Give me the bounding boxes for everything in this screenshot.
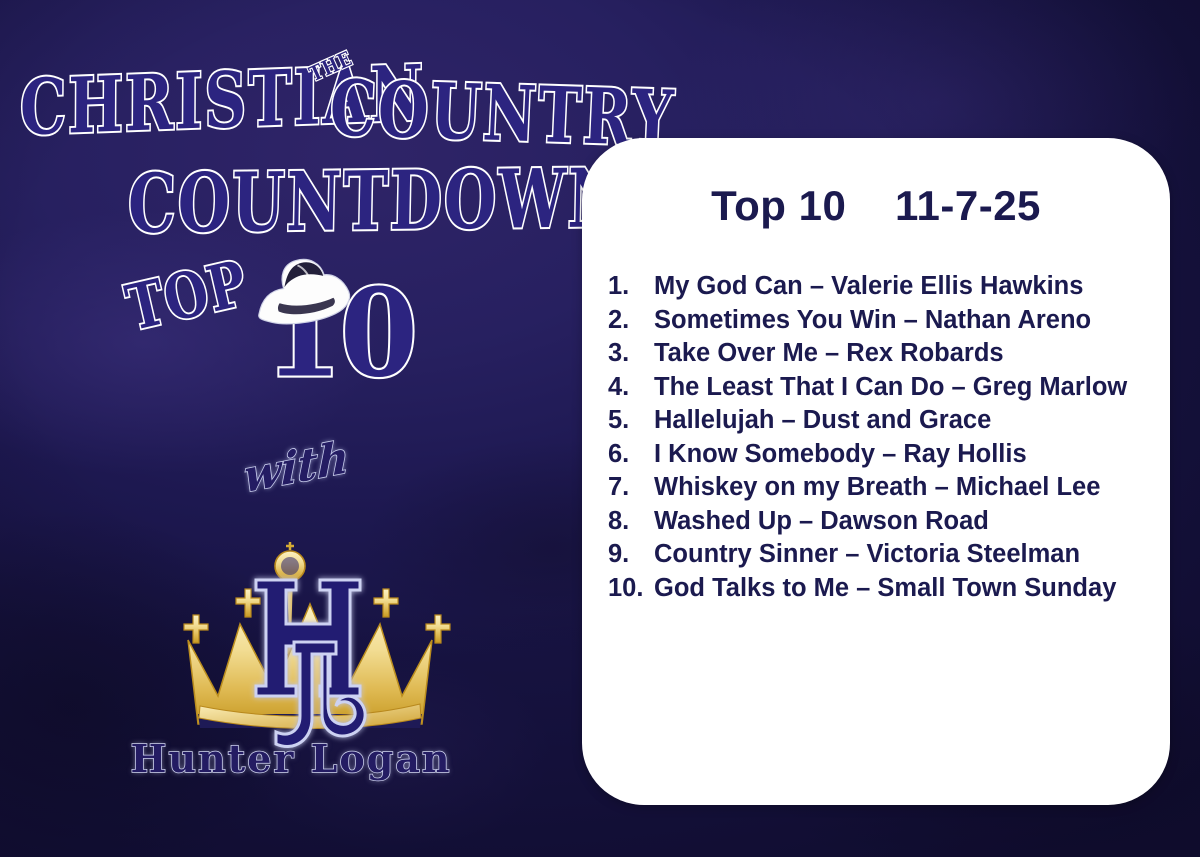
top-ten-list: 1. My God Can – Valerie Ellis Hawkins 2.… — [582, 230, 1170, 605]
track-text: Take Over Me – Rex Robards — [654, 337, 1004, 371]
list-item: 8. Washed Up – Dawson Road — [608, 505, 1170, 539]
list-item: 5. Hallelujah – Dust and Grace — [608, 404, 1170, 438]
list-item: 2. Sometimes You Win – Nathan Areno — [608, 304, 1170, 338]
cowboy-hat-icon — [243, 245, 361, 335]
list-item: 9. Country Sinner – Victoria Steelman — [608, 538, 1170, 572]
chart-card: Top 10 11-7-25 1. My God Can – Valerie E… — [582, 138, 1170, 805]
track-rank: 4. — [608, 371, 654, 405]
track-text: Hallelujah – Dust and Grace — [654, 404, 991, 438]
list-item: 6. I Know Somebody – Ray Hollis — [608, 438, 1170, 472]
track-rank: 3. — [608, 337, 654, 371]
track-rank: 9. — [608, 538, 654, 572]
list-item: 4. The Least That I Can Do – Greg Marlow — [608, 371, 1170, 405]
list-item: 3. Take Over Me – Rex Robards — [608, 337, 1170, 371]
track-text: I Know Somebody – Ray Hollis — [654, 438, 1027, 472]
countdown-graphic: CHRISTIAN THE COUNTRY COUNTDOWN TOP 10 w… — [0, 0, 1200, 857]
track-rank: 5. — [608, 404, 654, 438]
track-text: God Talks to Me – Small Town Sunday — [654, 572, 1116, 606]
host-name: Hunter Logan — [0, 736, 582, 781]
track-rank: 10. — [608, 572, 654, 606]
track-text: Sometimes You Win – Nathan Areno — [654, 304, 1091, 338]
top-label: TOP — [119, 246, 254, 345]
track-text: My God Can – Valerie Ellis Hawkins — [654, 270, 1083, 304]
track-rank: 1. — [608, 270, 654, 304]
with-label: with — [244, 431, 350, 504]
track-rank: 8. — [608, 505, 654, 539]
track-rank: 6. — [608, 438, 654, 472]
track-text: Washed Up – Dawson Road — [654, 505, 989, 539]
list-item: 1. My God Can – Valerie Ellis Hawkins — [608, 270, 1170, 304]
list-item: 10. God Talks to Me – Small Town Sunday — [608, 572, 1170, 606]
track-rank: 7. — [608, 471, 654, 505]
track-text: Whiskey on my Breath – Michael Lee — [654, 471, 1100, 505]
track-rank: 2. — [608, 304, 654, 338]
brand-panel: CHRISTIAN THE COUNTRY COUNTDOWN TOP 10 w… — [0, 0, 582, 857]
track-text: Country Sinner – Victoria Steelman — [654, 538, 1080, 572]
list-item: 7. Whiskey on my Breath – Michael Lee — [608, 471, 1170, 505]
card-title: Top 10 11-7-25 — [582, 138, 1170, 230]
track-text: The Least That I Can Do – Greg Marlow — [654, 371, 1127, 405]
headline-countdown: COUNTDOWN — [127, 152, 625, 252]
